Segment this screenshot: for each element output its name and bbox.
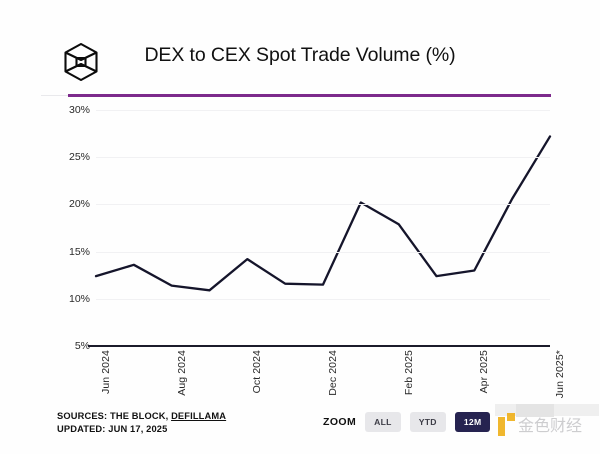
x-axis-labels: Jun 2024Aug 2024Oct 2024Dec 2024Feb 2025… (96, 350, 550, 408)
gridline (96, 299, 550, 300)
updated-line: UPDATED: JUN 17, 2025 (57, 423, 226, 436)
accent-rule-purple-segment (68, 94, 551, 97)
x-axis-tick-label: Oct 2024 (251, 350, 263, 393)
x-axis-tick-label: Jun 2024 (100, 350, 112, 394)
chart-card: DEX to CEX Spot Trade Volume (%) 5%10%15… (0, 0, 600, 454)
sources-line: SOURCES: THE BLOCK, DEFILLAMA (57, 410, 226, 423)
gridline (96, 157, 550, 158)
chart-header: DEX to CEX Spot Trade Volume (%) (55, 36, 545, 90)
zoom-button-12m[interactable]: 12M (455, 412, 491, 432)
y-axis-tick-label: 5% (44, 340, 90, 352)
y-axis-tick-label: 30% (44, 104, 90, 116)
plot-area (96, 110, 550, 346)
y-axis-labels: 5%10%15%20%25%30% (42, 110, 90, 350)
accent-rule-gray-segment (41, 95, 70, 97)
line-series (96, 110, 550, 346)
x-axis-tick-label: Aug 2024 (176, 350, 188, 396)
y-axis-tick-label: 10% (44, 293, 90, 305)
watermark: 金色财经 (498, 412, 582, 436)
y-axis-tick-label: 25% (44, 151, 90, 163)
x-axis-tick-label: Jun 2025* (554, 350, 566, 398)
x-axis-tick-label: Dec 2024 (327, 350, 339, 396)
jinse-logo-icon (498, 413, 515, 436)
zoom-label: ZOOM (323, 416, 356, 428)
watermark-text: 金色财经 (518, 412, 582, 436)
gridline (96, 252, 550, 253)
x-axis-tick-label: Feb 2025 (403, 350, 415, 395)
gridline (96, 110, 550, 111)
sources-prefix: SOURCES: THE BLOCK, (57, 411, 171, 421)
zoom-button-all[interactable]: ALL (365, 412, 401, 432)
page-title: DEX to CEX Spot Trade Volume (%) (55, 44, 545, 67)
gridline (96, 204, 550, 205)
zoom-control: ZOOM ALLYTD12M (323, 412, 490, 432)
sources-text: SOURCES: THE BLOCK, DEFILLAMA UPDATED: J… (57, 410, 226, 435)
zoom-button-ytd[interactable]: YTD (410, 412, 446, 432)
defillama-link[interactable]: DEFILLAMA (171, 411, 226, 421)
x-axis-line (88, 345, 550, 347)
accent-rule (41, 94, 551, 97)
x-axis-tick-label: Apr 2025 (478, 350, 490, 393)
y-axis-tick-label: 15% (44, 246, 90, 258)
y-axis-tick-label: 20% (44, 198, 90, 210)
